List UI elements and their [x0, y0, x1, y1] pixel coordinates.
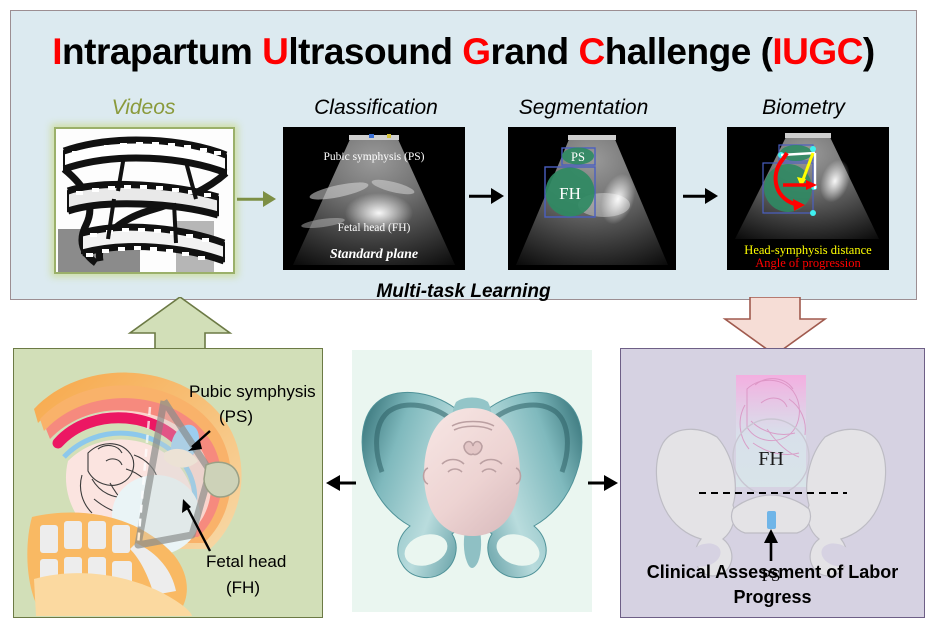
classification-annotation-mid: Fetal head (FH): [338, 222, 411, 234]
probe-handle: [204, 462, 239, 497]
title-word-3: Grand: [462, 31, 568, 72]
caption-line-1: Clinical Assessment of Labor: [621, 560, 924, 584]
sagittal-anatomy-illustration: Pubic symphysis (PS) Fetal head (FH): [14, 349, 321, 616]
title-word-4: Challenge: [578, 31, 750, 72]
biometry-angle-label: Angle of progression: [755, 256, 861, 270]
arrow-center-to-left: [326, 472, 356, 499]
bl-label-fh-line1: Fetal head: [206, 552, 286, 571]
stage-label-segmentation: Segmentation: [491, 96, 676, 120]
filmstrip-icon: [56, 129, 233, 272]
stage-label-biometry: Biometry: [711, 96, 896, 120]
bl-label-fh-line2: (FH): [226, 578, 260, 597]
ultrasound-fan-classification: Pubic symphysis (PS) Fetal head (FH) Sta…: [283, 127, 465, 270]
clinical-assessment-panel: FH PS Clinical Assessment of Labor Progr…: [620, 348, 925, 618]
biometry-distance-label: Head-symphysis distance: [744, 243, 872, 257]
bl-label-ps-line2: (PS): [219, 407, 253, 426]
classification-annotation-top: Pubic symphysis (PS): [324, 151, 425, 163]
caption-line-2: Progress: [621, 585, 924, 609]
pelvis-fetal-head-3d-illustration: [352, 350, 592, 612]
classification-ultrasound-image: Pubic symphysis (PS) Fetal head (FH) Sta…: [283, 127, 465, 270]
classification-annotation-bottom: Standard plane: [330, 247, 418, 262]
arrow-center-to-right: [588, 472, 618, 499]
videos-filmstrip-image: [54, 127, 235, 274]
fh-mask-label: FH: [559, 184, 581, 203]
arrow-up-anatomy-to-pipeline: [125, 297, 235, 355]
title-word-1: Intrapartum: [52, 31, 252, 72]
ultrasound-fan-segmentation: PS FH: [508, 127, 676, 270]
ps-mask-label: PS: [571, 150, 585, 164]
sagittal-anatomy-panel: Pubic symphysis (PS) Fetal head (FH): [13, 348, 323, 618]
segmentation-ultrasound-image: PS FH: [508, 127, 676, 270]
bl-label-ps-line1: Pubic symphysis: [189, 382, 316, 401]
fetal-head-3d: [424, 408, 520, 536]
ps-marker: [767, 511, 776, 529]
arrow-down-pipeline-to-clinical: [720, 297, 830, 355]
br-fh-label: FH: [758, 448, 784, 470]
stage-label-classification: Classification: [276, 96, 476, 120]
title-acronym-group: (IUGC): [761, 31, 875, 72]
biometry-ultrasound-image: Head-symphysis distance Angle of progres…: [727, 127, 889, 270]
clinical-assessment-caption: Clinical Assessment of Labor Progress: [621, 560, 924, 609]
stage-label-videos: Videos: [71, 96, 216, 120]
ultrasound-fan-biometry: Head-symphysis distance Angle of progres…: [727, 127, 889, 270]
title-word-2: Ultrasound: [262, 31, 452, 72]
figure-title: Intrapartum Ultrasound Grand Challenge (…: [11, 31, 916, 73]
multi-task-learning-panel: Intrapartum Ultrasound Grand Challenge (…: [10, 10, 917, 300]
pelvis-3d-panel: [352, 350, 592, 612]
